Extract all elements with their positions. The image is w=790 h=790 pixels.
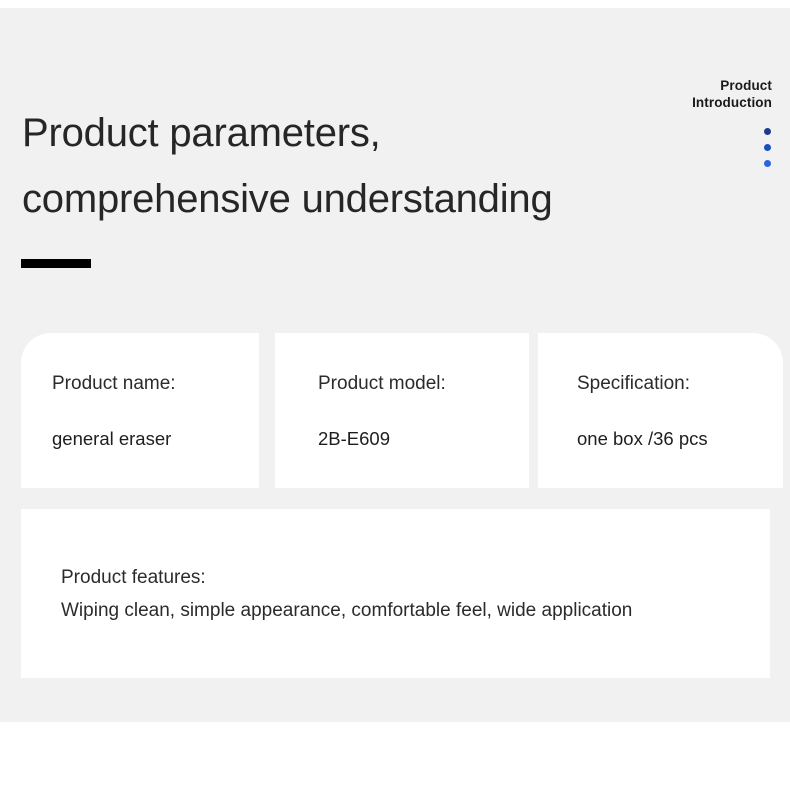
spec-label: Product model: <box>318 371 529 397</box>
product-features-card: Product features: Wiping clean, simple a… <box>21 509 770 678</box>
eyebrow-line-1: Product <box>692 77 772 94</box>
spec-label: Specification: <box>577 371 783 397</box>
title-accent-rule <box>21 259 91 268</box>
spec-value: general eraser <box>52 427 259 451</box>
product-parameters-page: Product Introduction Product parameters,… <box>0 0 790 790</box>
content-panel: Product Introduction Product parameters,… <box>0 8 790 722</box>
spec-card-row: Product name: general eraser Product mod… <box>21 333 790 488</box>
spec-card-specification: Specification: one box /36 pcs <box>538 333 783 488</box>
spec-card-product-model: Product model: 2B-E609 <box>275 333 529 488</box>
spec-value: one box /36 pcs <box>577 427 783 451</box>
features-text: Wiping clean, simple appearance, comfort… <box>61 594 701 627</box>
page-title-line-2: comprehensive understanding <box>22 166 767 232</box>
page-title-line-1: Product parameters, <box>22 100 767 166</box>
features-label: Product features: <box>61 561 730 594</box>
spec-card-product-name: Product name: general eraser <box>21 333 259 488</box>
spec-label: Product name: <box>52 371 259 397</box>
spec-value: 2B-E609 <box>318 427 529 451</box>
page-title: Product parameters, comprehensive unders… <box>22 100 767 232</box>
